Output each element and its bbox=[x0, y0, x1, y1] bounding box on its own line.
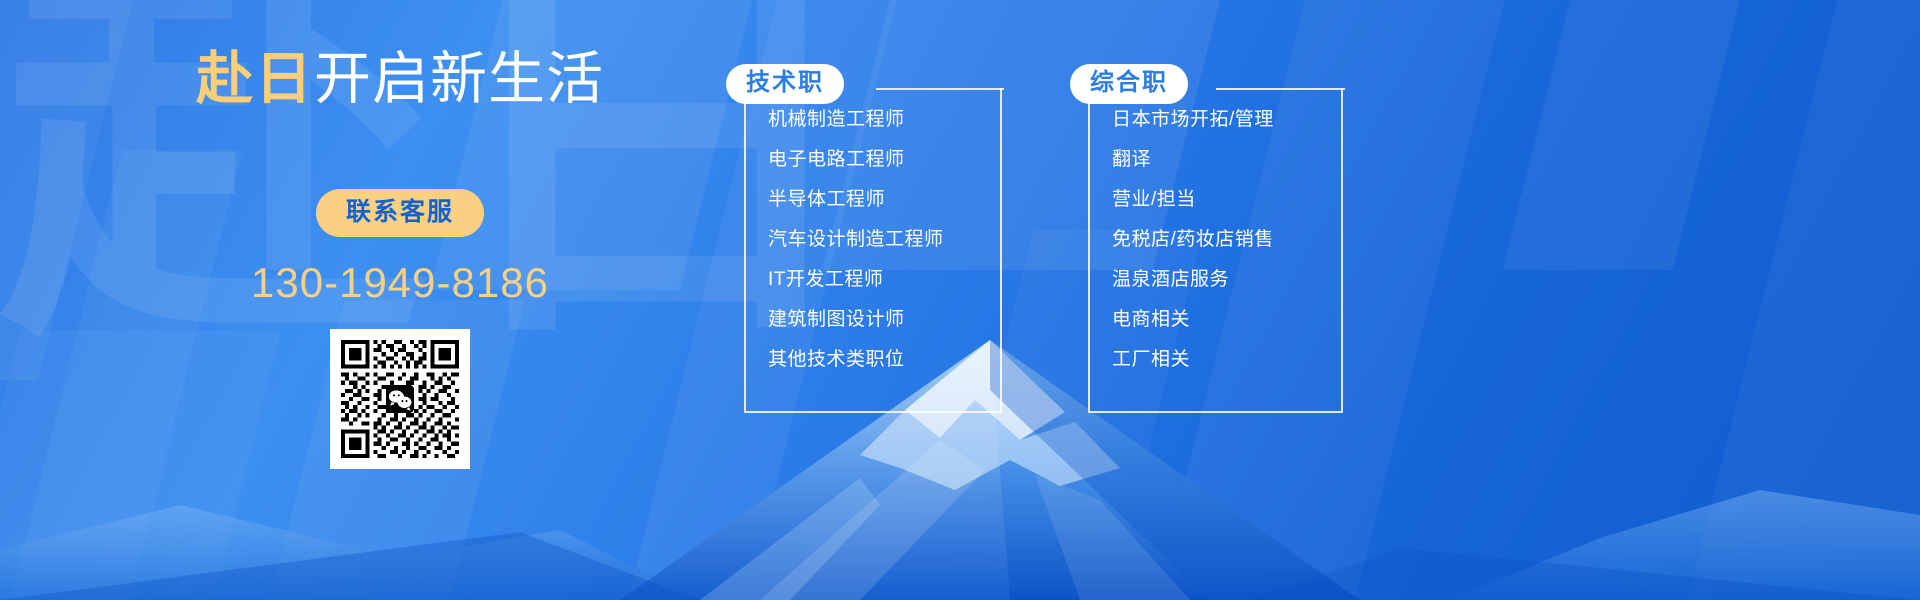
panel-body-technical: 机械制造工程师 电子电路工程师 半导体工程师 汽车设计制造工程师 IT开发工程师… bbox=[744, 88, 1002, 413]
list-item[interactable]: 营业/担当 bbox=[1112, 190, 1341, 209]
left-content-column: 赴日开启新生活 联系客服 130-1949-8186 bbox=[130, 0, 670, 600]
panel-top-border bbox=[1216, 88, 1345, 90]
list-item[interactable]: 翻译 bbox=[1112, 150, 1341, 169]
list-item[interactable]: 半导体工程师 bbox=[768, 190, 1000, 209]
list-item[interactable]: 日本市场开拓/管理 bbox=[1112, 110, 1341, 129]
list-item[interactable]: 汽车设计制造工程师 bbox=[768, 230, 1000, 249]
list-item[interactable]: 电子电路工程师 bbox=[768, 150, 1000, 169]
list-item[interactable]: IT开发工程师 bbox=[768, 270, 1000, 289]
phone-number[interactable]: 130-1949-8186 bbox=[130, 259, 670, 307]
list-item[interactable]: 建筑制图设计师 bbox=[768, 310, 1000, 329]
qr-code-icon bbox=[341, 340, 459, 458]
job-list-general: 日本市场开拓/管理 翻译 营业/担当 免税店/药妆店销售 温泉酒店服务 电商相关… bbox=[1112, 110, 1341, 369]
panel-tag-general[interactable]: 综合职 bbox=[1070, 64, 1188, 104]
promotional-banner: 赴日 bbox=[0, 0, 1920, 600]
wechat-qr-code[interactable] bbox=[330, 329, 470, 469]
list-item[interactable]: 工厂相关 bbox=[1112, 350, 1341, 369]
list-item[interactable]: 免税店/药妆店销售 bbox=[1112, 230, 1341, 249]
job-list-technical: 机械制造工程师 电子电路工程师 半导体工程师 汽车设计制造工程师 IT开发工程师… bbox=[768, 110, 1000, 369]
background-band bbox=[1503, 0, 1748, 270]
list-item[interactable]: 其他技术类职位 bbox=[768, 350, 1000, 369]
panel-tag-technical[interactable]: 技术职 bbox=[726, 64, 844, 104]
list-item[interactable]: 电商相关 bbox=[1112, 310, 1341, 329]
headline-accent-text: 赴日 bbox=[196, 47, 314, 111]
job-panel-general: 综合职 日本市场开拓/管理 翻译 营业/担当 免税店/药妆店销售 温泉酒店服务 … bbox=[1088, 88, 1346, 413]
panel-body-general: 日本市场开拓/管理 翻译 营业/担当 免税店/药妆店销售 温泉酒店服务 电商相关… bbox=[1088, 88, 1343, 413]
headline-main-text: 开启新生活 bbox=[314, 47, 604, 111]
panel-top-border bbox=[876, 88, 1004, 90]
list-item[interactable]: 温泉酒店服务 bbox=[1112, 270, 1341, 289]
job-panel-technical: 技术职 机械制造工程师 电子电路工程师 半导体工程师 汽车设计制造工程师 IT开… bbox=[744, 88, 1002, 413]
contact-support-button[interactable]: 联系客服 bbox=[316, 189, 484, 238]
page-title: 赴日开启新生活 bbox=[130, 48, 670, 111]
list-item[interactable]: 机械制造工程师 bbox=[768, 110, 1000, 129]
